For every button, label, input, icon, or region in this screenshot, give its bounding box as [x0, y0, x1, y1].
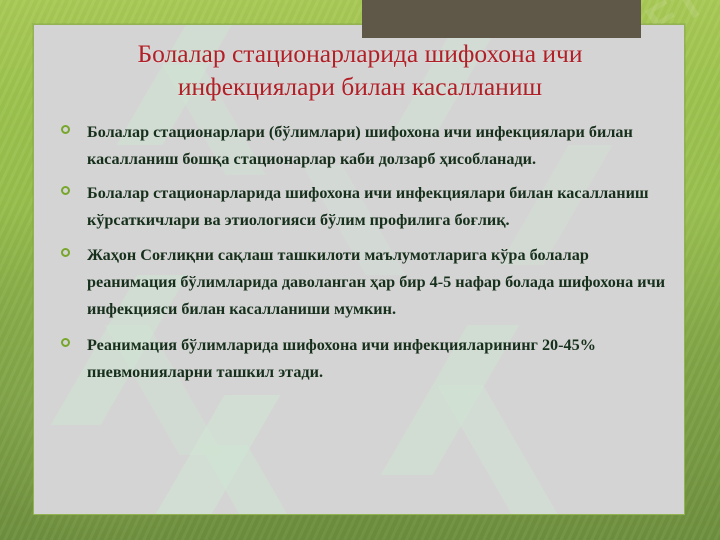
list-item-text: Болалар стационарларида шифохона ичи инф… — [87, 180, 659, 234]
bullet-ring-icon — [61, 248, 70, 257]
bullet-ring-icon — [61, 186, 70, 195]
bullet-list: Болалар стационарлари (бўлимлари) шифохо… — [34, 119, 684, 393]
list-item: Болалар стационарларида шифохона ичи инф… — [34, 180, 684, 234]
top-overlay-bar — [362, 0, 641, 38]
list-item-text: Жаҳон Соғлиқни сақлаш ташкилоти маълумот… — [87, 242, 667, 323]
list-item: Болалар стационарлари (бўлимлари) шифохо… — [34, 119, 684, 173]
list-item-text: Болалар стационарлари (бўлимлари) шифохо… — [87, 119, 652, 173]
page-title: Болалар стационарларида шифохона ичи инф… — [62, 37, 658, 103]
presentation-slide: SOFT SOFT SOFT Болалар стационарларида ш… — [0, 0, 720, 540]
list-item-text: Реанимация бўлимларида шифохона ичи инфе… — [87, 332, 632, 386]
content-panel: Болалар стационарларида шифохона ичи инф… — [33, 24, 685, 515]
page-title-line-2: инфекциялари билан касалланиш — [62, 70, 658, 103]
list-item: Реанимация бўлимларида шифохона ичи инфе… — [34, 332, 684, 386]
panel-inner: Болалар стационарларида шифохона ичи инф… — [34, 25, 684, 514]
list-item: Жаҳон Соғлиқни сақлаш ташкилоти маълумот… — [34, 242, 684, 323]
bullet-ring-icon — [61, 338, 70, 347]
page-title-line-1: Болалар стационарларида шифохона ичи — [62, 37, 658, 70]
bullet-ring-icon — [61, 125, 70, 134]
